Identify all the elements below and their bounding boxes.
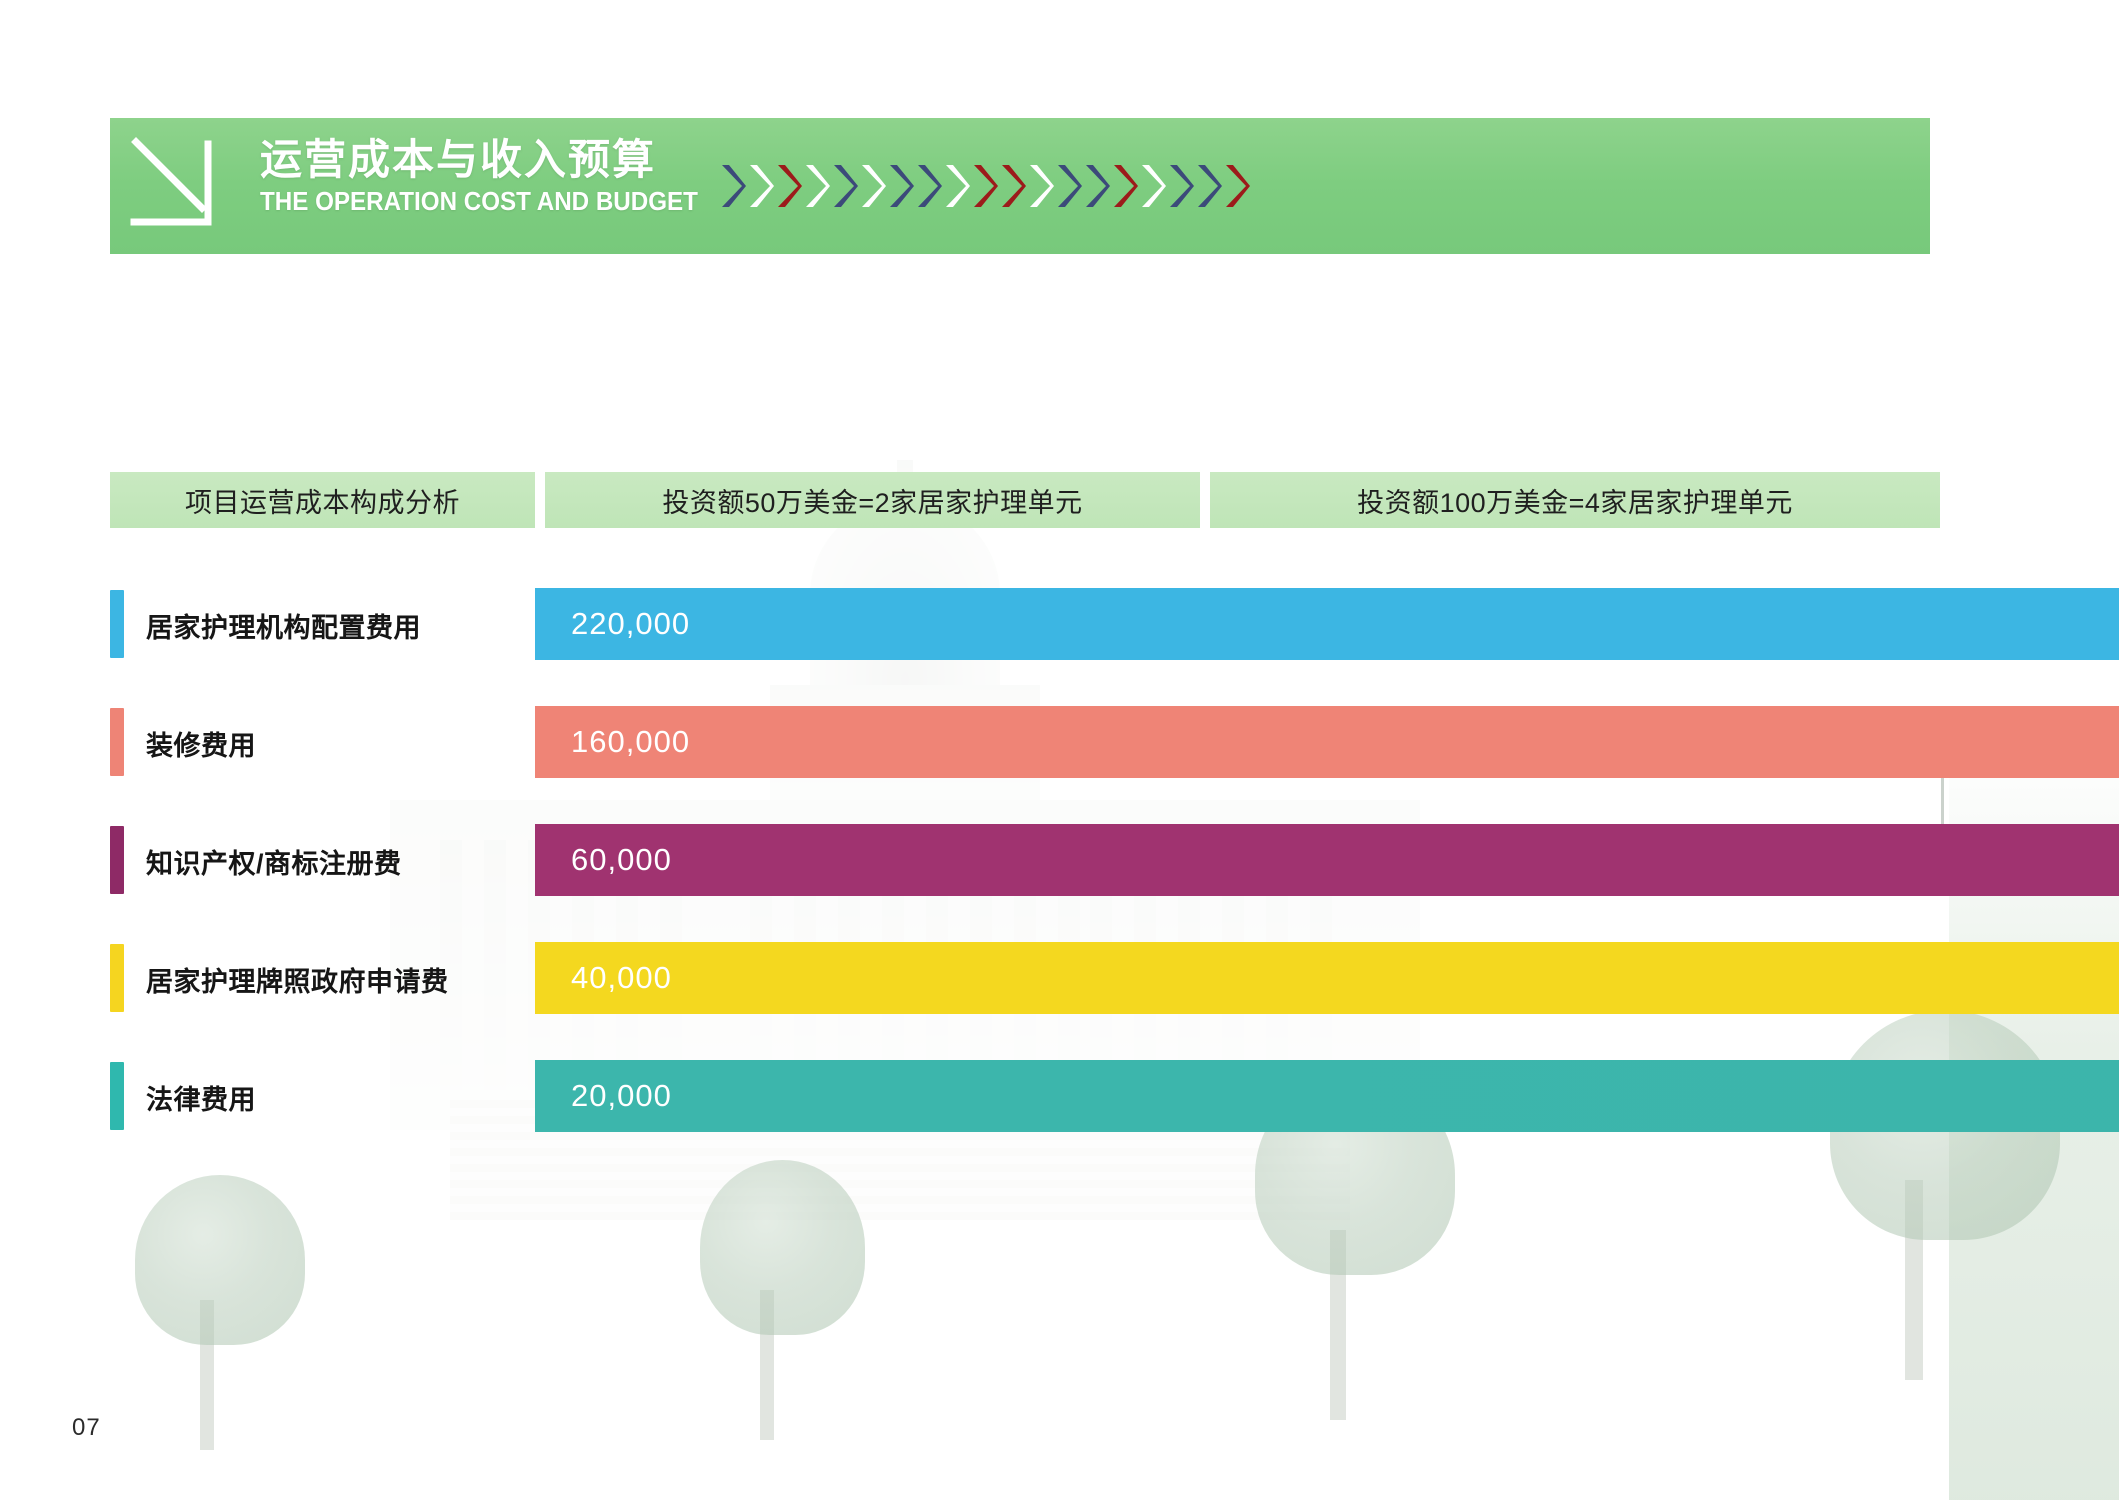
chevron-icon [1084,163,1110,209]
chevron-icon [1140,163,1166,209]
bar-segment-series-1: 40,000 [535,942,2119,1014]
chevron-icon [888,163,914,209]
row-label: 装修费用 [146,724,256,763]
row-accent-bar [110,708,124,776]
row-accent-bar [110,590,124,658]
chevron-icon [720,163,746,209]
row-bar-group: 160,000320,000 [535,706,2119,778]
column-header-series-2: 投资额100万美金=4家居家护理单元 [1210,472,1940,528]
cost-row: 知识产权/商标注册费60,000120,000 [110,806,1940,924]
column-header-category: 项目运营成本构成分析 [110,472,535,528]
bar-segment-series-1: 20,000 [535,1060,2119,1132]
row-label: 知识产权/商标注册费 [146,842,402,881]
page-number: 07 [72,1414,101,1442]
row-label: 居家护理机构配置费用 [146,606,421,645]
page-title-cn: 运营成本与收入预算 [260,134,731,186]
chevron-icon [1028,163,1054,209]
banner-title-block: 运营成本与收入预算 THE OPERATION COST AND BUDGET [260,134,731,216]
chevron-icon [860,163,886,209]
cost-row: 居家护理牌照政府申请费40,00080,000 [110,924,1940,1042]
chevron-icon [1224,163,1250,209]
cost-breakdown-rows: 居家护理机构配置费用220,000440,000装修费用160,000320,0… [110,570,1940,1160]
row-accent-bar [110,826,124,894]
chevron-icon [916,163,942,209]
row-accent-bar [110,1062,124,1130]
cost-row: 装修费用160,000320,000 [110,688,1940,806]
row-bar-group: 220,000440,000 [535,588,2119,660]
chevron-icon [1112,163,1138,209]
chevron-icon [972,163,998,209]
row-label: 法律费用 [146,1078,256,1117]
section-banner: 运营成本与收入预算 THE OPERATION COST AND BUDGET [110,118,1930,254]
chevron-icon [832,163,858,209]
chevron-icon [1056,163,1082,209]
chevron-icon [776,163,802,209]
cost-row: 法律费用20,00040,000 [110,1042,1940,1160]
bar-segment-series-1: 160,000 [535,706,2119,778]
chevron-icon [748,163,774,209]
page-title-en: THE OPERATION COST AND BUDGET [260,186,698,216]
tree-canopy [700,1160,865,1335]
row-bar-group: 60,000120,000 [535,824,2119,896]
cost-row: 居家护理机构配置费用220,000440,000 [110,570,1940,688]
bar-segment-series-1: 60,000 [535,824,2119,896]
row-bar-group: 40,00080,000 [535,942,2119,1014]
chevron-icon [1196,163,1222,209]
chevron-icon [1168,163,1194,209]
chevron-icon [1000,163,1026,209]
column-header-series-1: 投资额50万美金=2家居家护理单元 [545,472,1200,528]
chevron-icon [944,163,970,209]
row-bar-group: 20,00040,000 [535,1060,2119,1132]
tree-canopy [135,1175,305,1345]
row-label: 居家护理牌照政府申请费 [146,960,449,999]
bar-segment-series-1: 220,000 [535,588,2119,660]
chevron-icon [804,163,830,209]
diagonal-down-right-arrow-icon [130,136,230,236]
row-accent-bar [110,944,124,1012]
chevron-decoration [720,160,1250,212]
